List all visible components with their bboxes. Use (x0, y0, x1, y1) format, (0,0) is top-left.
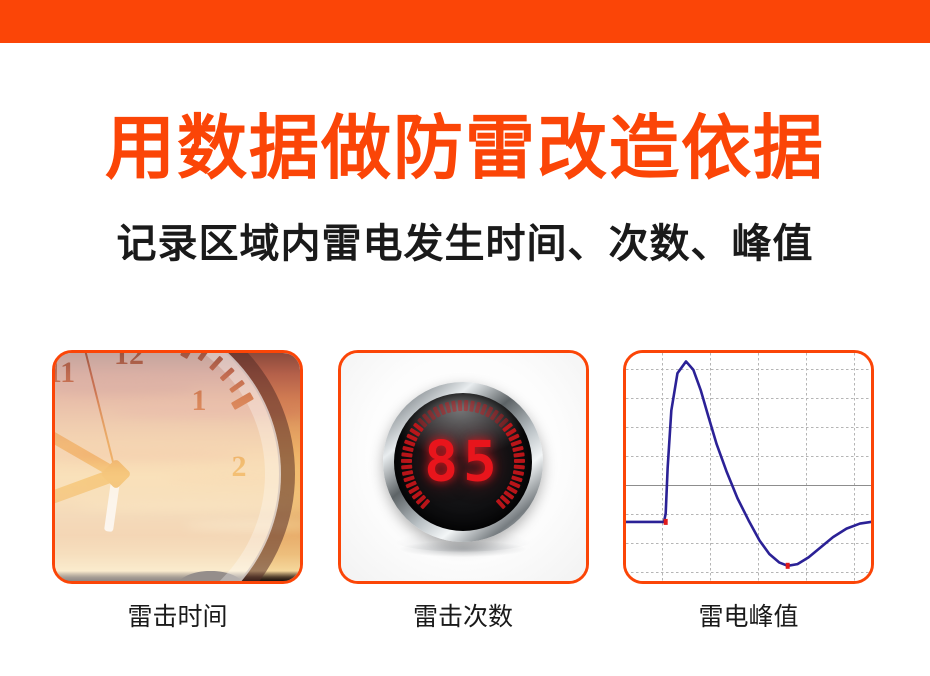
feature-card-lightning-count[interactable]: 85 (338, 350, 589, 584)
page-title: 用数据做防雷改造依据 (0, 106, 930, 190)
waveform-plot (626, 353, 871, 581)
waveform-marker (664, 519, 668, 525)
clock-numeral-12: 12 (114, 350, 144, 372)
waveform-curve (626, 353, 871, 581)
gauge-tick (451, 401, 457, 412)
feature-card-lightning-time[interactable]: 12 11 10 9 8 1 2 (52, 350, 303, 584)
gauge-tick (464, 400, 469, 411)
clock-tick (197, 350, 210, 361)
clock-tick (231, 392, 254, 410)
clock-tick (180, 350, 198, 359)
clock-sunset-illustration: 12 11 10 9 8 1 2 (55, 353, 303, 584)
gauge-bezel: 85 (383, 382, 543, 542)
waveform-markers (664, 519, 790, 569)
clock-tick (229, 380, 245, 393)
clock-tick (219, 367, 234, 381)
gauge-tick (401, 459, 412, 463)
gauge-face: 85 (394, 393, 532, 531)
page-subtitle: 记录区域内雷电发生时间、次数、峰值 (0, 218, 930, 270)
gauge-tick (514, 459, 525, 463)
waveform-marker (786, 563, 790, 569)
gauge-tick (458, 400, 463, 411)
clock-numeral-1: 1 (192, 384, 207, 418)
feature-card-row: 12 11 10 9 8 1 2 85 (52, 350, 874, 584)
feature-caption-row: 雷击时间 雷击次数 雷电峰值 (52, 600, 874, 634)
clock-numeral-2: 2 (232, 450, 247, 484)
top-accent-bar (0, 0, 930, 43)
feature-card-lightning-peak[interactable] (623, 350, 874, 584)
clock-dial: 12 11 10 9 8 1 2 (52, 350, 281, 584)
gauge-illustration: 85 (341, 353, 586, 581)
caption-lightning-peak: 雷电峰值 (623, 600, 874, 634)
clock-tick (208, 356, 222, 371)
caption-lightning-count: 雷击次数 (338, 600, 589, 634)
caption-lightning-time: 雷击时间 (52, 600, 303, 634)
clock-numeral-11: 11 (52, 356, 75, 390)
